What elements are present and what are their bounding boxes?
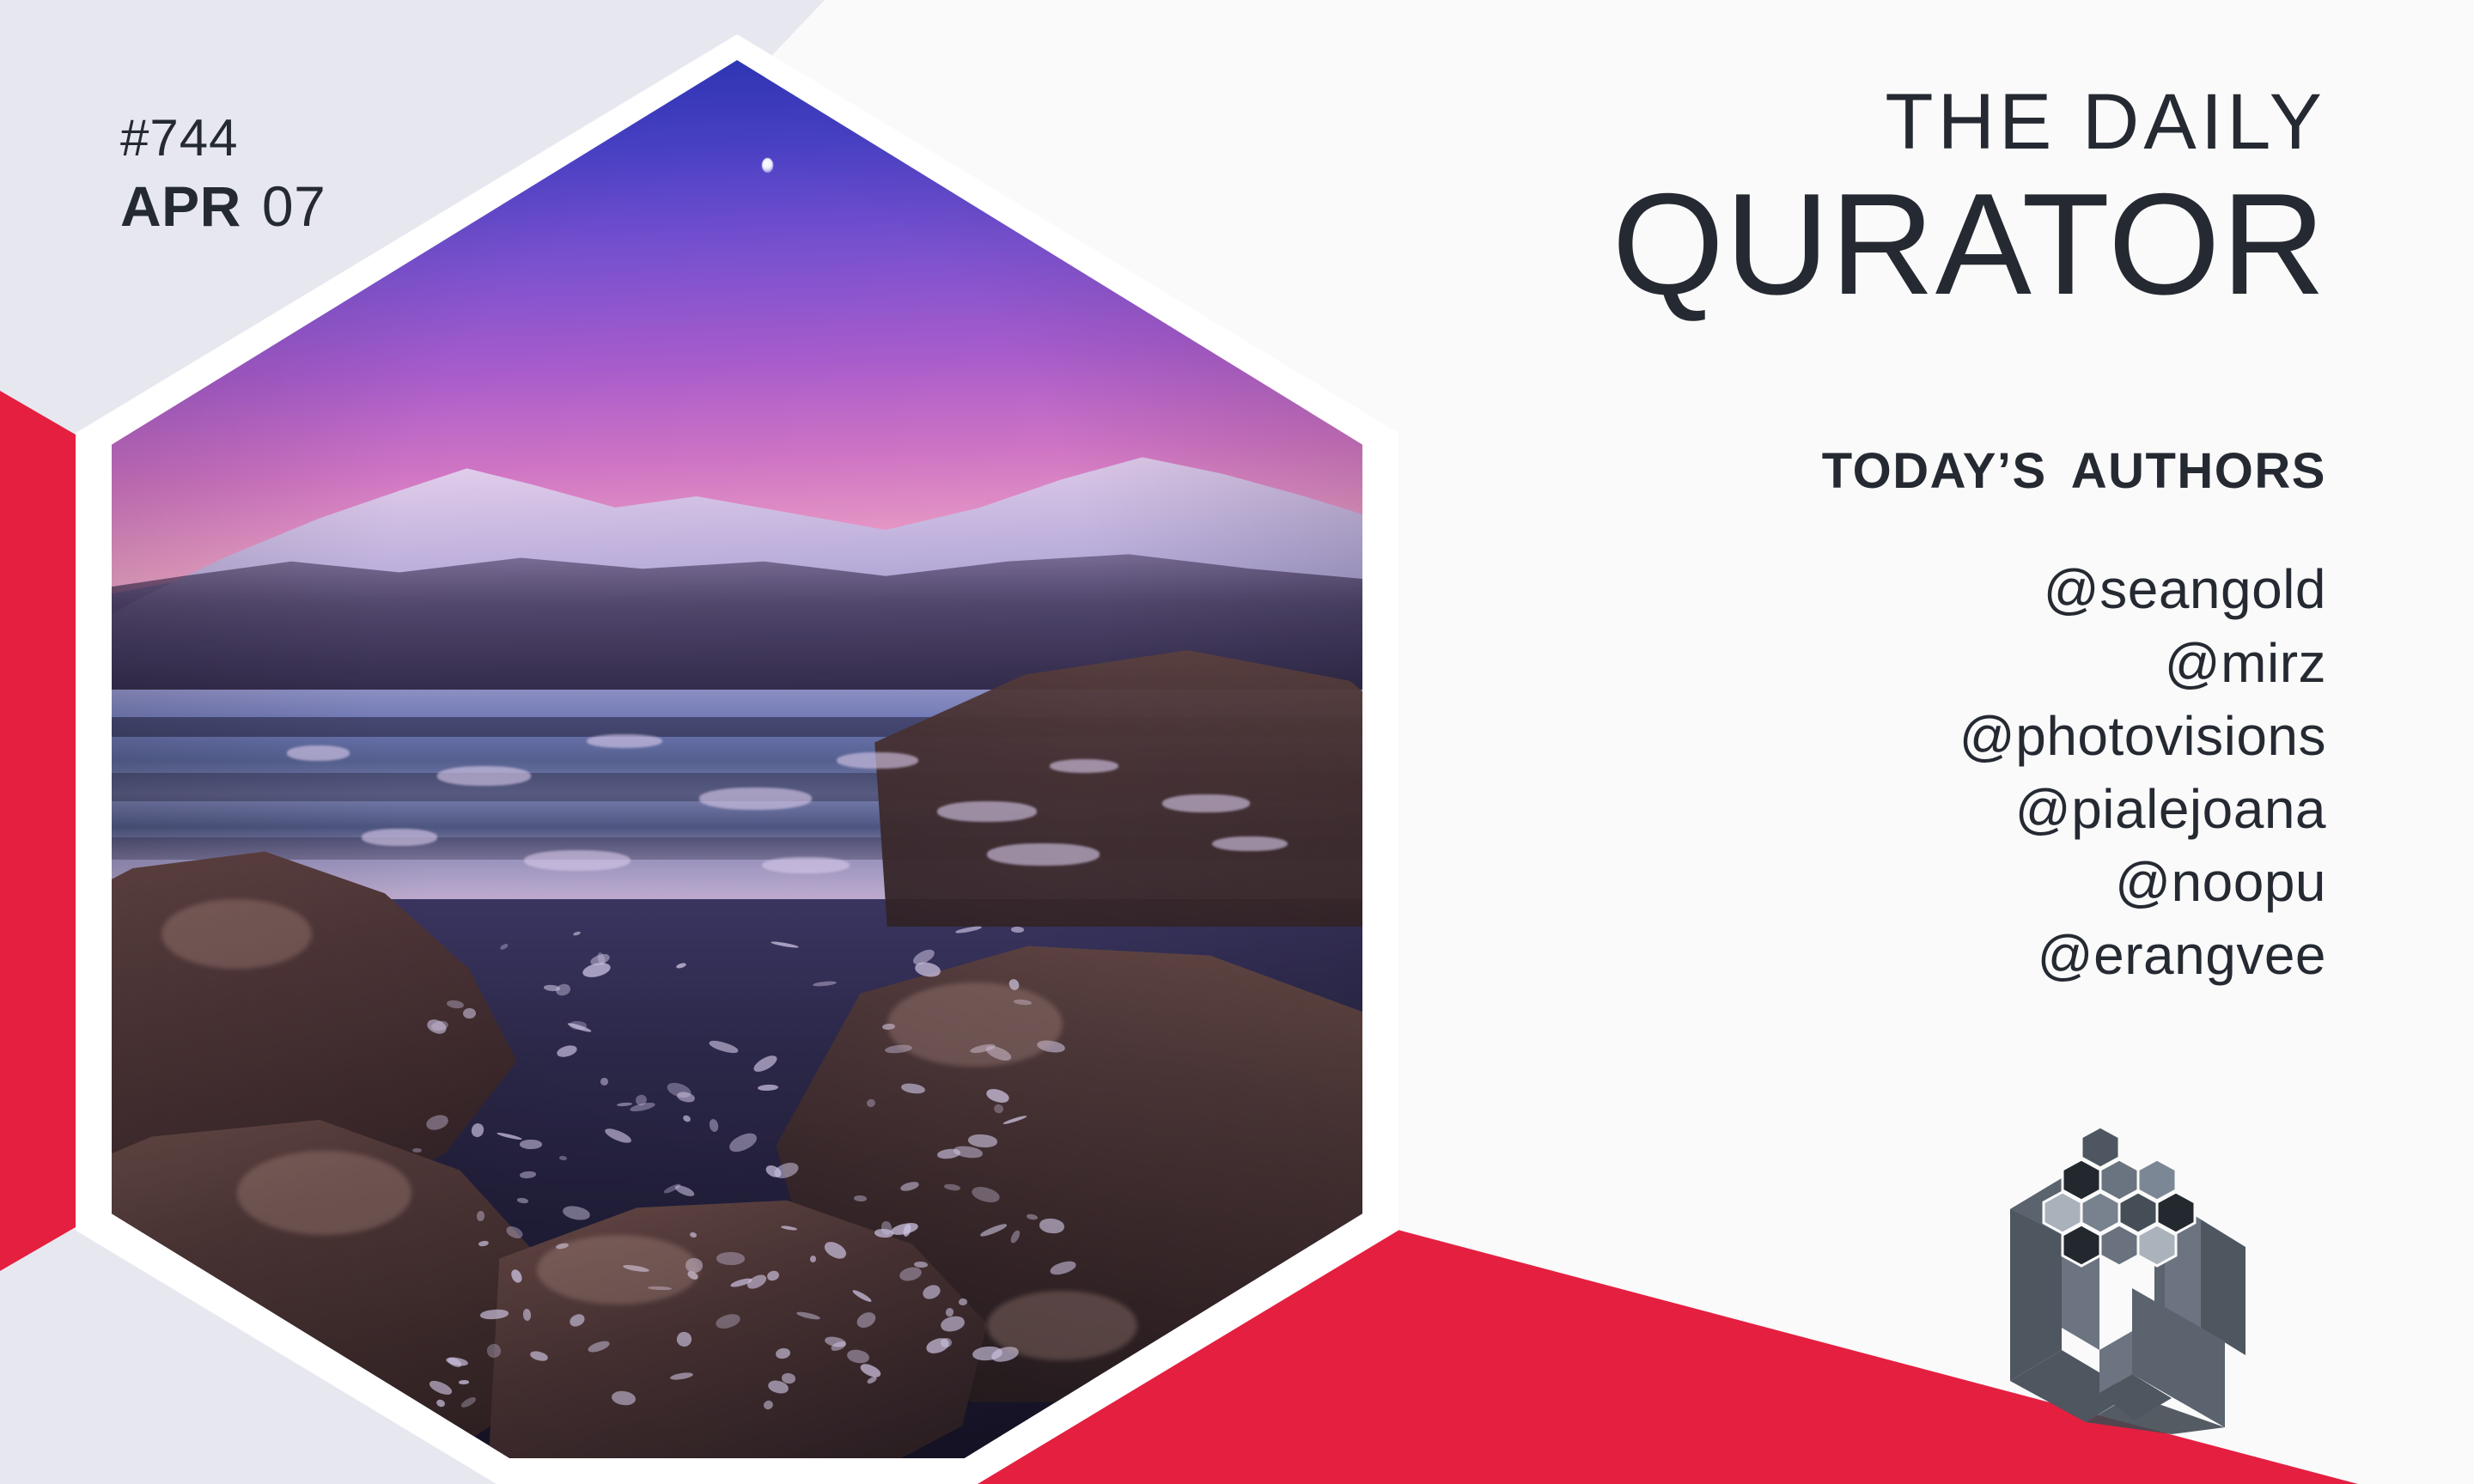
rock-highlight xyxy=(237,1151,412,1235)
issue-date: APR07 xyxy=(120,178,326,235)
ice-patch xyxy=(1212,836,1287,852)
rock-highlight xyxy=(887,982,1063,1067)
ice-floe xyxy=(716,1252,745,1265)
rock-highlight xyxy=(987,1291,1137,1360)
ice-patch xyxy=(1162,794,1250,812)
ice-patch xyxy=(524,850,631,871)
authors-list: @seangold @mirz @photovisions @pialejoan… xyxy=(1381,553,2326,992)
rock-highlight xyxy=(161,899,312,969)
qurator-logo xyxy=(2003,1125,2252,1434)
featured-photo xyxy=(112,60,1362,1458)
logo-honeycomb-icon xyxy=(2044,1127,2195,1266)
list-item[interactable]: @photovisions xyxy=(1381,700,2326,773)
issue-block: #744 APR07 xyxy=(120,112,326,236)
ice-patch xyxy=(762,857,850,874)
ice-floe xyxy=(958,1298,966,1305)
ice-floe xyxy=(462,1008,475,1019)
ice-patch xyxy=(287,745,350,761)
masthead: THE DAILY QURATOR xyxy=(1381,82,2326,322)
ice-patch xyxy=(699,788,812,810)
ice-floe xyxy=(520,1140,542,1149)
list-item[interactable]: @seangold xyxy=(1381,553,2326,626)
issue-number: #744 xyxy=(120,112,326,164)
ice-patch xyxy=(837,752,918,769)
poster-canvas: #744 APR07 THE DAILY QURATOR TODAY’SAUTH… xyxy=(0,0,2474,1484)
list-item[interactable]: @noopu xyxy=(1381,846,2326,919)
ice-patch xyxy=(362,829,436,846)
ice-patch xyxy=(587,734,661,748)
authors-heading-part-2: AUTHORS xyxy=(2071,443,2326,499)
photo-scene xyxy=(112,60,1362,1458)
issue-day: 07 xyxy=(262,174,326,238)
rock-highlight xyxy=(537,1235,699,1305)
list-item[interactable]: @erangvee xyxy=(1381,919,2326,992)
authors-heading-part-1: TODAY’S xyxy=(1822,443,2047,499)
issue-month: APR xyxy=(120,174,241,238)
right-column: THE DAILY QURATOR TODAY’SAUTHORS @seango… xyxy=(1381,0,2326,992)
list-item[interactable]: @pialejoana xyxy=(1381,773,2326,846)
hexagon-photo-frame xyxy=(76,34,1398,1484)
list-item[interactable]: @mirz xyxy=(1381,627,2326,700)
masthead-line-1: THE DAILY xyxy=(1381,82,2326,161)
ice-patch xyxy=(437,766,531,786)
ice-floe xyxy=(945,1307,954,1317)
ice-patch xyxy=(987,843,1100,866)
ice-patch xyxy=(937,801,1037,822)
masthead-line-2: QURATOR xyxy=(1381,167,2326,322)
qurator-logo-icon xyxy=(2003,1125,2252,1434)
authors-heading: TODAY’SAUTHORS xyxy=(1381,442,2326,500)
ice-patch xyxy=(1050,759,1118,773)
